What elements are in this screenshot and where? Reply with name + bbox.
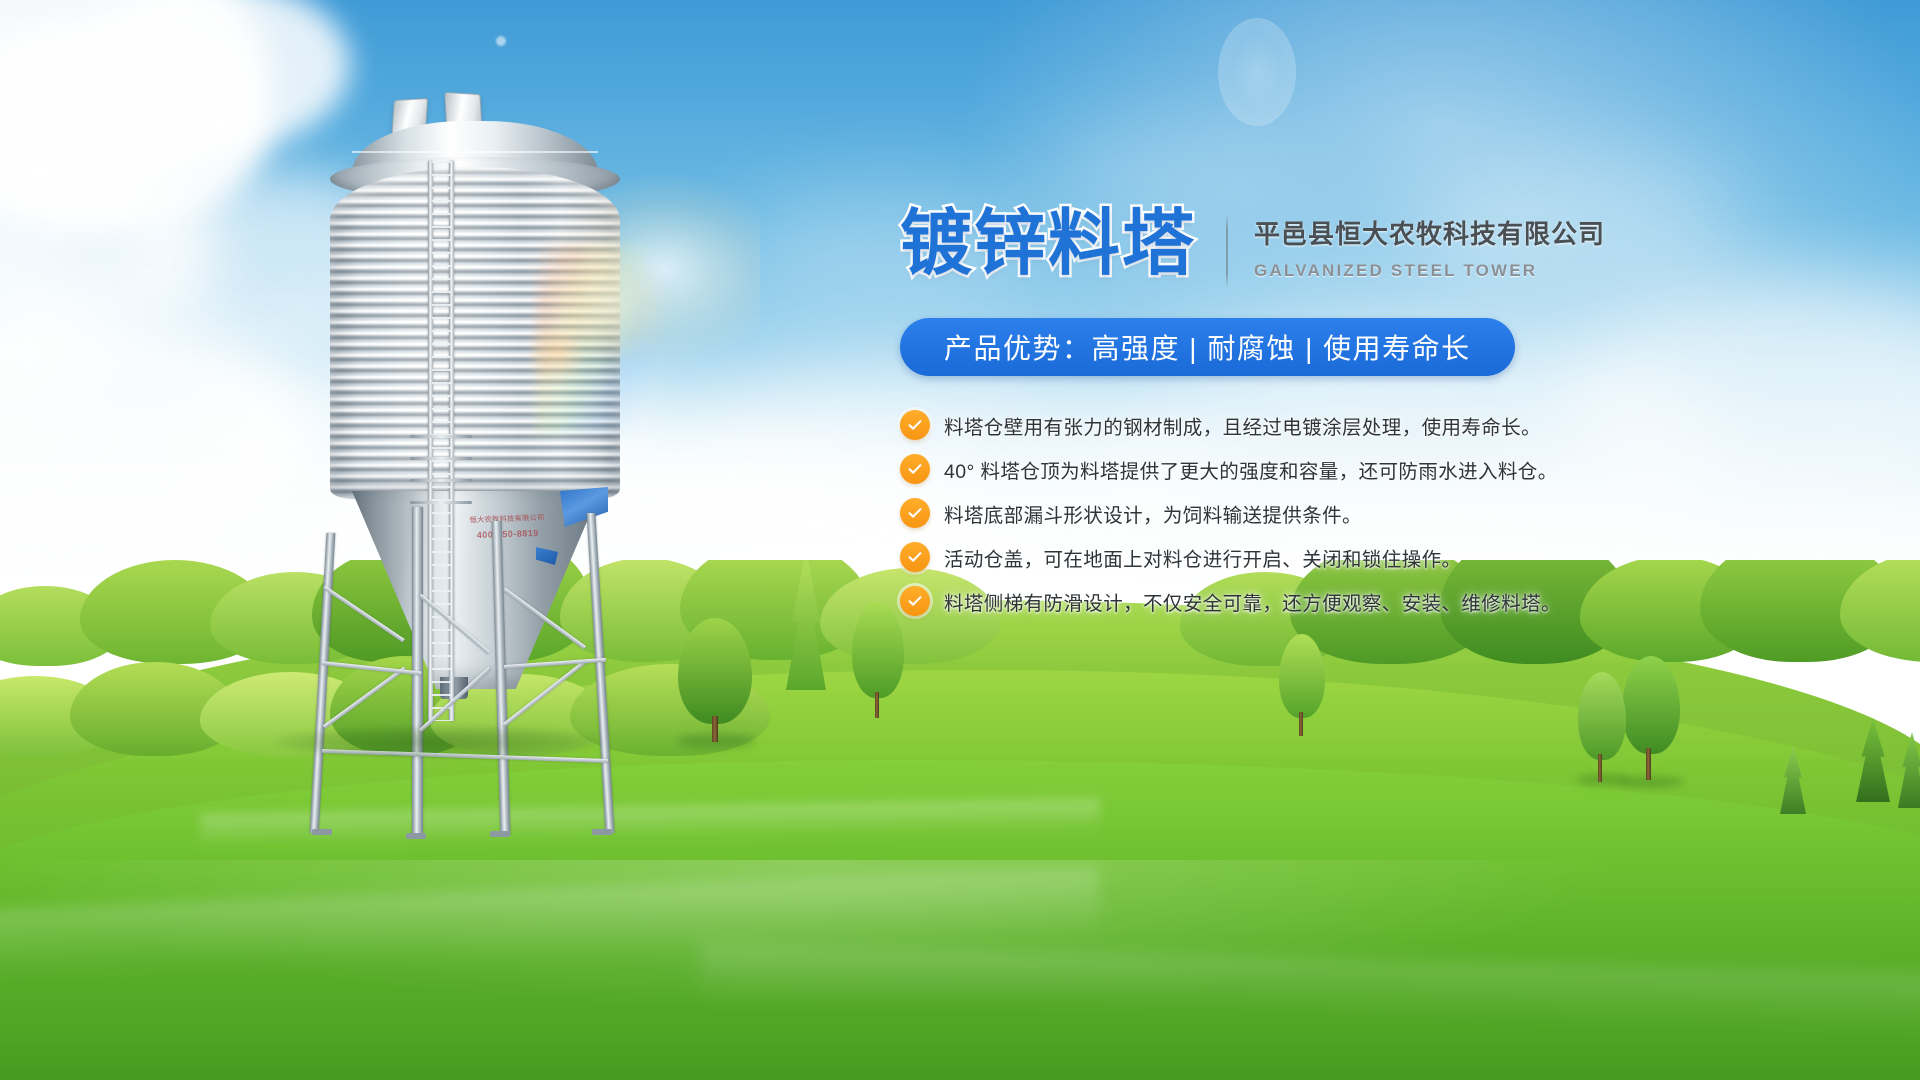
feature-text: 料塔底部漏斗形状设计，为饲料输送提供条件。	[944, 499, 1362, 528]
silo-mid-beam	[322, 661, 422, 675]
list-item: 料塔底部漏斗形状设计，为饲料输送提供条件。	[900, 498, 1660, 528]
lens-flare-dot-icon	[496, 36, 506, 46]
company-name: 平邑县恒大农牧科技有限公司	[1254, 214, 1605, 251]
list-item: 料塔侧梯有防滑设计，不仅安全可靠，还方便观察、安装、维修料塔。	[900, 586, 1660, 616]
silo-mid-beam	[504, 658, 606, 669]
conifer-tree	[1898, 732, 1920, 816]
check-circle-icon	[900, 410, 930, 440]
tree	[1276, 634, 1328, 738]
check-circle-icon	[900, 498, 930, 528]
check-circle-icon	[900, 586, 930, 616]
grass-field	[0, 560, 1920, 1080]
feature-text: 料塔仓壁用有张力的钢材制成，且经过电镀涂层处理，使用寿命长。	[944, 411, 1541, 440]
check-circle-icon	[900, 454, 930, 484]
tree	[1574, 672, 1632, 784]
feature-text: 40° 料塔仓顶为料塔提供了更大的强度和容量，还可防雨水进入料仓。	[944, 455, 1558, 484]
advantage-badge: 产品优势：高强度 | 耐腐蚀 | 使用寿命长	[900, 318, 1515, 376]
silo-foot-pad	[406, 833, 426, 839]
lens-flare-orb-icon	[1218, 18, 1296, 126]
page-title: 镀锌料塔	[900, 208, 1196, 280]
conifer-tree	[1856, 718, 1890, 812]
silo-support-legs	[300, 425, 660, 755]
brand-block: 平邑县恒大农牧科技有限公司 GALVANIZED STEEL TOWER	[1254, 208, 1605, 281]
conifer-tree	[786, 560, 826, 700]
english-subtitle: GALVANIZED STEEL TOWER	[1254, 261, 1605, 281]
conifer-tree	[1780, 746, 1806, 820]
list-item: 料塔仓壁用有张力的钢材制成，且经过电镀涂层处理，使用寿命长。	[900, 410, 1660, 440]
product-banner: 恒大农牧科技有限公司 400-850-8819	[0, 0, 1920, 1080]
feature-text: 料塔侧梯有防滑设计，不仅安全可靠，还方便观察、安装、维修料塔。	[944, 587, 1561, 616]
tree	[848, 602, 908, 722]
title-divider	[1226, 214, 1228, 288]
silo-foot-pad	[312, 829, 332, 835]
banner-text-panel: 镀锌料塔 平邑县恒大农牧科技有限公司 GALVANIZED STEEL TOWE…	[900, 208, 1660, 630]
check-circle-icon	[900, 542, 930, 572]
silo-cross-brace	[503, 587, 586, 649]
title-row: 镀锌料塔 平邑县恒大农牧科技有限公司 GALVANIZED STEEL TOWE…	[900, 208, 1660, 288]
list-item: 活动仓盖，可在地面上对料仓进行开启、关闭和锁住操作。	[900, 542, 1660, 572]
silo-ground-shadow	[272, 726, 602, 758]
silo-cross-brace	[323, 585, 405, 642]
list-item: 40° 料塔仓顶为料塔提供了更大的强度和容量，还可防雨水进入料仓。	[900, 454, 1660, 484]
lens-flare-orb-icon	[526, 323, 586, 383]
silo-cross-brace	[419, 593, 491, 654]
feature-text: 活动仓盖，可在地面上对料仓进行开启、关闭和锁住操作。	[944, 543, 1461, 572]
tree	[672, 618, 758, 748]
silo-cross-brace	[323, 667, 406, 729]
silo-foot-pad	[592, 829, 612, 835]
silo-cross-brace	[503, 661, 586, 727]
galvanized-feed-silo-photo: 恒大农牧科技有限公司 400-850-8819	[300, 95, 660, 755]
silo-foot-pad	[490, 831, 510, 837]
silo-roof-seam	[352, 151, 598, 153]
grass-shading	[0, 860, 1920, 1080]
feature-list: 料塔仓壁用有张力的钢材制成，且经过电镀涂层处理，使用寿命长。 40° 料塔仓顶为…	[900, 410, 1660, 616]
silo-cross-brace	[419, 667, 492, 733]
